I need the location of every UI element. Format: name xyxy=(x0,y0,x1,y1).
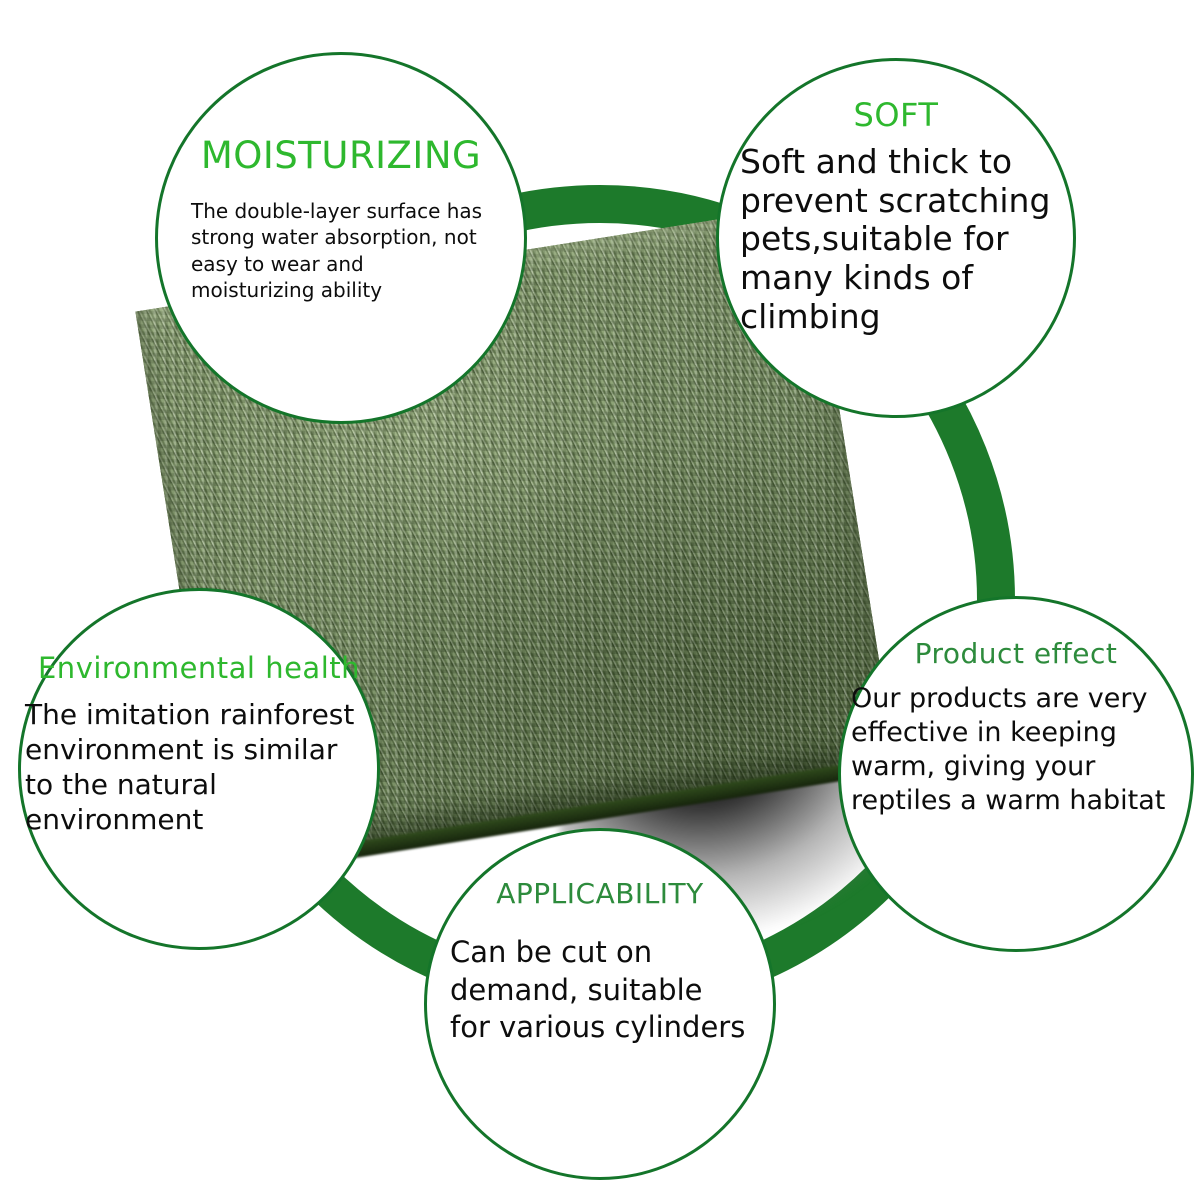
feature-title-soft: SOFT xyxy=(854,99,939,133)
feature-bubble-soft[interactable]: SOFT Soft and thick to prevent scratchin… xyxy=(716,58,1076,418)
feature-bubble-product-effect[interactable]: Product effect Our products are very eff… xyxy=(838,596,1194,952)
feature-body-moisturizing: The double-layer surface has strong wate… xyxy=(191,198,491,304)
feature-title-product-effect: Product effect xyxy=(915,639,1118,668)
feature-title-moisturizing: MOISTURIZING xyxy=(201,137,481,176)
feature-body-product-effect: Our products are very effective in keepi… xyxy=(851,682,1181,818)
feature-title-environmental-health: Environmental health xyxy=(38,653,360,683)
feature-body-soft: Soft and thick to prevent scratching pet… xyxy=(740,143,1052,338)
feature-bubble-environmental-health[interactable]: Environmental health The imitation rainf… xyxy=(18,588,380,950)
infographic-canvas: MOISTURIZING The double-layer surface ha… xyxy=(0,0,1200,1200)
feature-body-applicability: Can be cut on demand, suitable for vario… xyxy=(450,934,750,1045)
feature-body-environmental-health: The imitation rainforest environment is … xyxy=(25,697,373,837)
feature-bubble-applicability[interactable]: APPLICABILITY Can be cut on demand, suit… xyxy=(424,828,776,1180)
feature-bubble-moisturizing[interactable]: MOISTURIZING The double-layer surface ha… xyxy=(155,52,527,424)
feature-title-applicability: APPLICABILITY xyxy=(496,879,704,908)
